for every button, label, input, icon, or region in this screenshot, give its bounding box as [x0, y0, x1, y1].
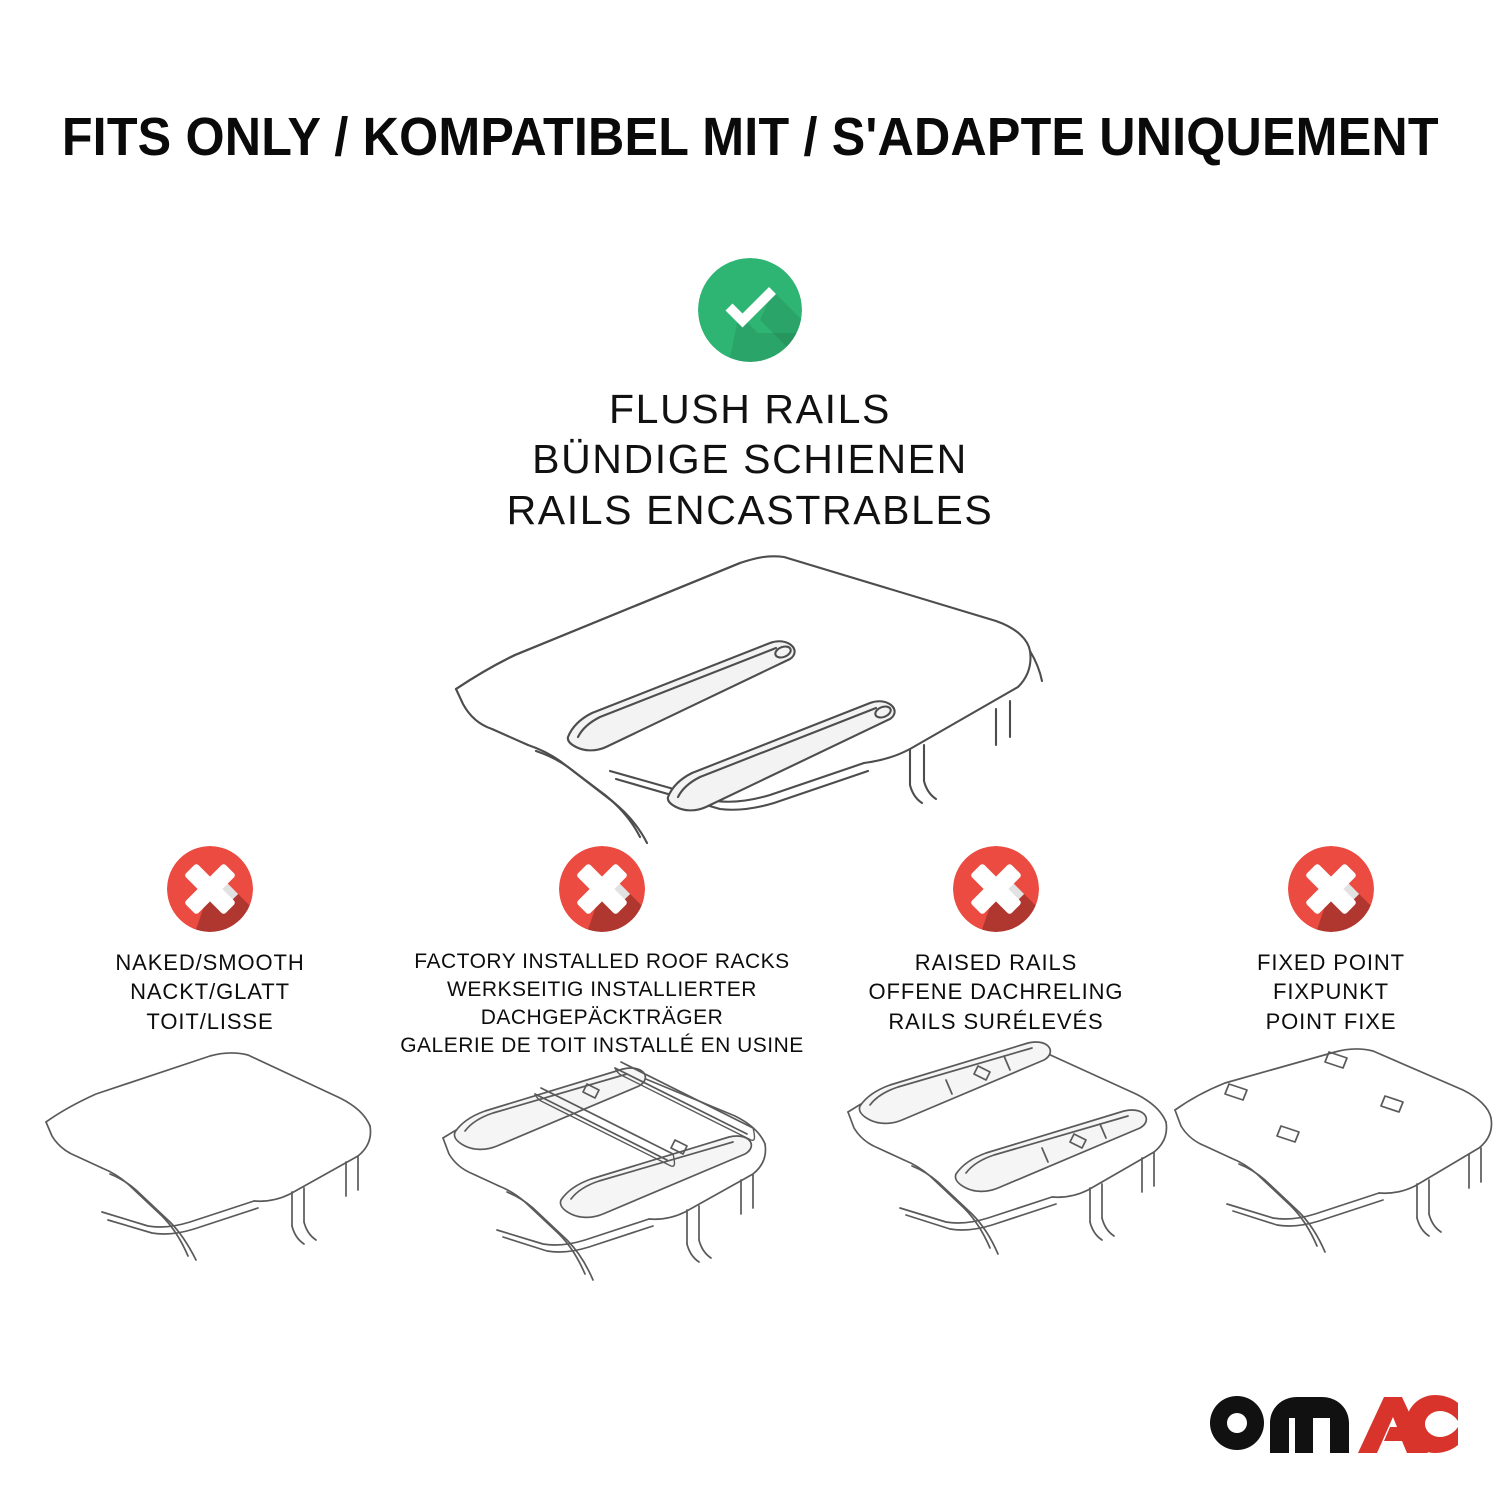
compatible-line-en: FLUSH RAILS — [507, 384, 994, 434]
car-roof-with-raised-rails-illustration — [826, 1050, 1166, 1260]
caption-line-en: RAISED RAILS — [869, 948, 1124, 977]
x-circle-icon — [559, 846, 645, 932]
car-roof-with-flush-rails-illustration — [440, 549, 1060, 849]
caption-line-en: FACTORY INSTALLED ROOF RACKS — [400, 948, 804, 976]
incompatible-caption: FIXED POINT FIXPUNKT POINT FIXE — [1257, 948, 1405, 1036]
incompatible-item-naked-smooth: NAKED/SMOOTH NACKT/GLATT TOIT/LISSE — [40, 846, 380, 1260]
x-circle-icon — [167, 846, 253, 932]
caption-line-de: FIXPUNKT — [1257, 977, 1405, 1006]
omac-logo — [1206, 1392, 1458, 1458]
caption-line-de: OFFENE DACHRELING — [869, 977, 1124, 1006]
logo-letter-m — [1270, 1397, 1349, 1453]
caption-line-de: NACKT/GLATT — [115, 977, 304, 1006]
check-circle-icon — [698, 258, 802, 362]
incompatible-caption: RAISED RAILS OFFENE DACHRELING RAILS SUR… — [869, 948, 1124, 1036]
incompatible-item-factory-roof-racks: FACTORY INSTALLED ROOF RACKS WERKSEITIG … — [392, 846, 812, 1284]
compatible-caption: FLUSH RAILS BÜNDIGE SCHIENEN RAILS ENCAS… — [507, 384, 994, 535]
incompatible-item-raised-rails: RAISED RAILS OFFENE DACHRELING RAILS SUR… — [826, 846, 1166, 1260]
caption-line-de-1: WERKSEITIG INSTALLIERTER — [400, 976, 804, 1004]
incompatible-section: NAKED/SMOOTH NACKT/GLATT TOIT/LISSE — [0, 846, 1500, 1284]
caption-line-fr: POINT FIXE — [1257, 1007, 1405, 1036]
page-title-bar: FITS ONLY / KOMPATIBEL MIT / S'ADAPTE UN… — [0, 106, 1500, 168]
incompatible-caption: NAKED/SMOOTH NACKT/GLATT TOIT/LISSE — [115, 948, 304, 1036]
compatible-line-de: BÜNDIGE SCHIENEN — [507, 434, 994, 484]
caption-line-de-2: DACHGEPÄCKTRÄGER — [400, 1004, 804, 1032]
page-title: FITS ONLY / KOMPATIBEL MIT / S'ADAPTE UN… — [62, 106, 1439, 168]
incompatible-caption: FACTORY INSTALLED ROOF RACKS WERKSEITIG … — [400, 948, 804, 1060]
car-roof-bare-illustration — [40, 1050, 380, 1260]
x-circle-icon — [953, 846, 1039, 932]
caption-line-fr: RAILS SURÉLEVÉS — [869, 1007, 1124, 1036]
incompatible-item-fixed-point: FIXED POINT FIXPUNKT POINT FIXE — [1186, 846, 1476, 1260]
caption-line-en: FIXED POINT — [1257, 948, 1405, 977]
x-circle-icon — [1288, 846, 1374, 932]
compatible-line-fr: RAILS ENCASTRABLES — [507, 485, 994, 535]
caption-line-fr: TOIT/LISSE — [115, 1007, 304, 1036]
car-roof-with-fixed-points-illustration — [1171, 1050, 1491, 1260]
compatible-section: FLUSH RAILS BÜNDIGE SCHIENEN RAILS ENCAS… — [0, 258, 1500, 849]
caption-line-fr: GALERIE DE TOIT INSTALLÉ EN USINE — [400, 1032, 804, 1060]
car-roof-with-factory-crossbars-illustration — [417, 1074, 787, 1284]
logo-letter-o — [1210, 1396, 1264, 1450]
caption-line-en: NAKED/SMOOTH — [115, 948, 304, 977]
